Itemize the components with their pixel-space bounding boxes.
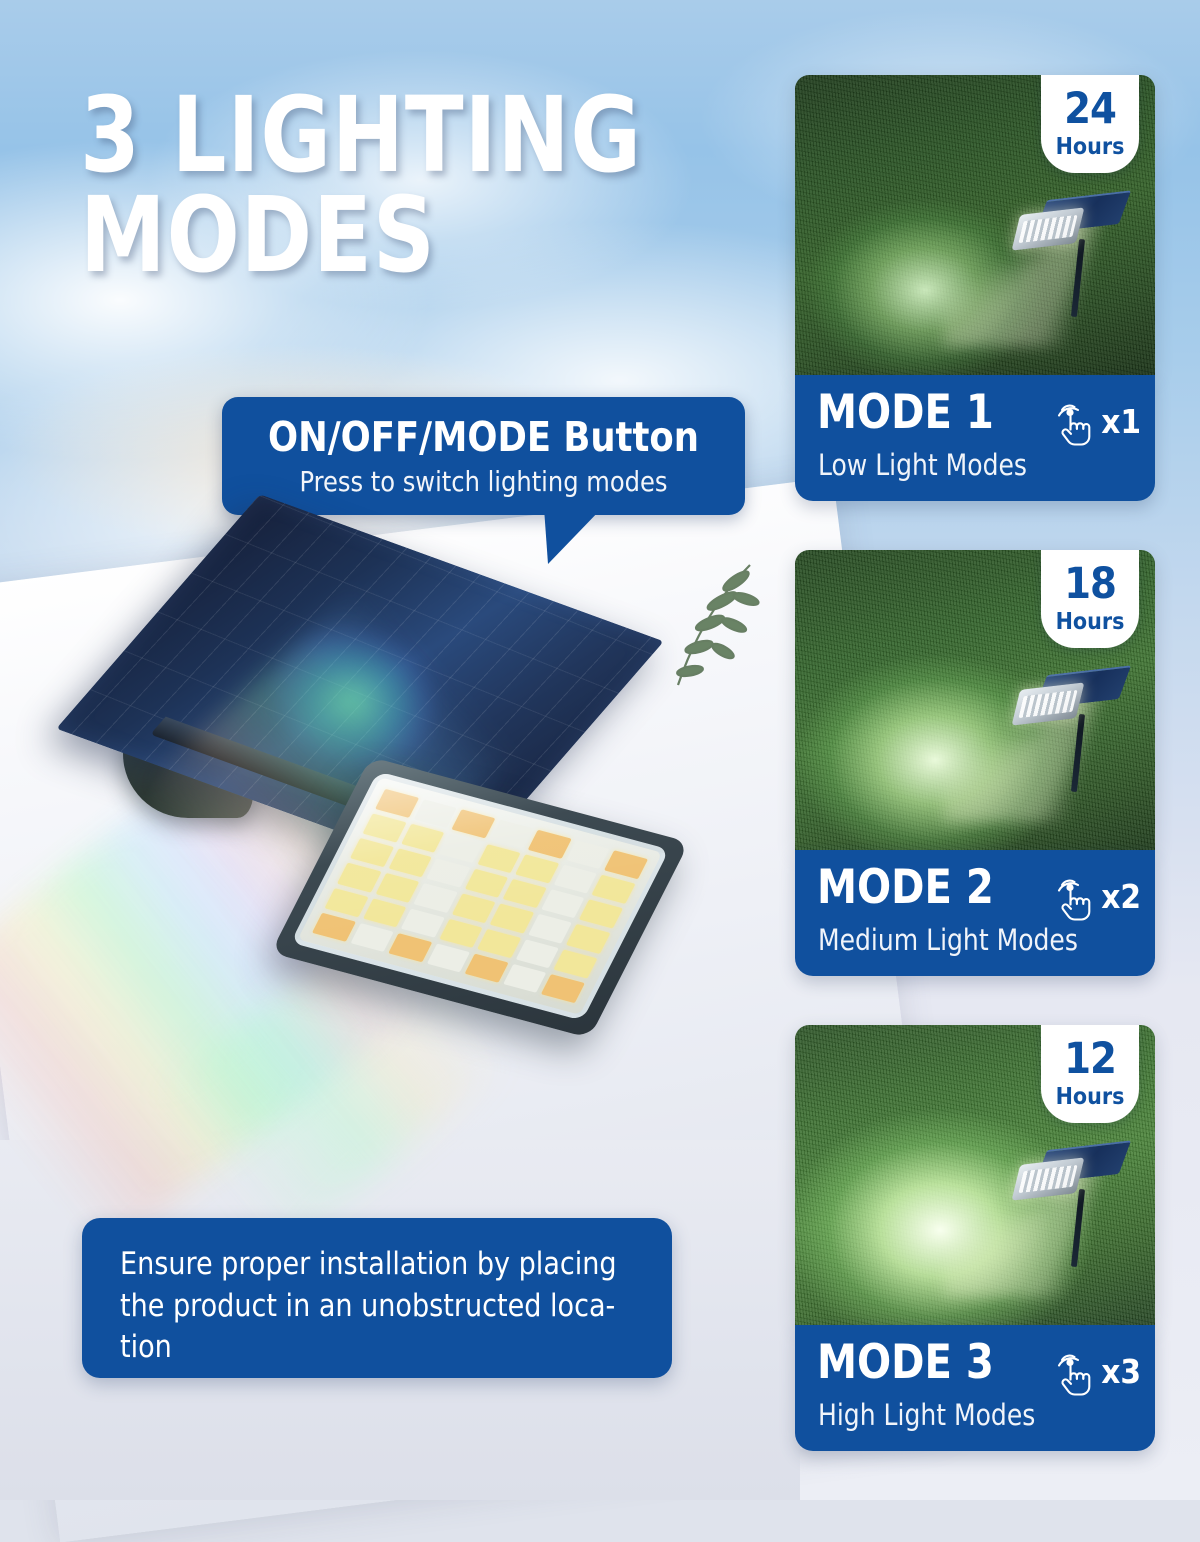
press-count-2: x2 bbox=[1101, 877, 1141, 916]
press-count-1: x1 bbox=[1101, 402, 1141, 441]
lamp-led-head bbox=[1012, 1157, 1085, 1200]
press-indicator-1: x1 bbox=[1051, 397, 1141, 447]
tap-gesture-icon bbox=[1051, 872, 1097, 922]
mode-card-1[interactable]: 24 Hours MODE 1 Low Light Modes x1 bbox=[795, 75, 1155, 501]
mode-card-3[interactable]: 12 Hours MODE 3 High Light Modes x3 bbox=[795, 1025, 1155, 1451]
runtime-hours-label: Hours bbox=[1056, 609, 1125, 635]
mode-card-2[interactable]: 18 Hours MODE 2 Medium Light Modes x2 bbox=[795, 550, 1155, 976]
runtime-badge-2: 18 Hours bbox=[1041, 550, 1139, 648]
callout-title: ON/OFF/MODE Button bbox=[232, 413, 734, 461]
press-count-3: x3 bbox=[1101, 1352, 1141, 1391]
runtime-badge-1: 24 Hours bbox=[1041, 75, 1139, 173]
installation-note-text: Ensure proper installation by placing th… bbox=[120, 1244, 624, 1369]
lamp-in-photo bbox=[1017, 670, 1127, 790]
mode-title-2: MODE 2 bbox=[817, 864, 994, 911]
callout-subtitle: Press to switch lighting modes bbox=[232, 465, 734, 498]
installation-note: Ensure proper installation by placing th… bbox=[82, 1218, 672, 1378]
lamp-in-photo bbox=[1017, 195, 1127, 315]
runtime-hours-label: Hours bbox=[1056, 1084, 1125, 1110]
foliage-sprig-icon bbox=[600, 555, 760, 745]
runtime-hours-value: 24 bbox=[1064, 88, 1116, 131]
runtime-hours-value: 18 bbox=[1064, 563, 1116, 606]
lamp-stake bbox=[1071, 239, 1085, 317]
mode-photo-1: 24 Hours bbox=[795, 75, 1155, 375]
tap-gesture-icon bbox=[1051, 1347, 1097, 1397]
mode-label-band-2: MODE 2 Medium Light Modes x2 bbox=[795, 850, 1155, 976]
lamp-stake bbox=[1071, 1189, 1085, 1267]
lamp-led-head bbox=[1012, 682, 1085, 725]
press-indicator-3: x3 bbox=[1051, 1347, 1141, 1397]
runtime-badge-3: 12 Hours bbox=[1041, 1025, 1139, 1123]
mode-photo-3: 12 Hours bbox=[795, 1025, 1155, 1325]
mode-label-band-1: MODE 1 Low Light Modes x1 bbox=[795, 375, 1155, 501]
runtime-hours-label: Hours bbox=[1056, 134, 1125, 160]
lamp-led-head bbox=[1012, 207, 1085, 250]
onoff-mode-callout: ON/OFF/MODE Button Press to switch light… bbox=[222, 397, 745, 515]
mode-subtitle-1: Low Light Modes bbox=[818, 451, 1027, 480]
page-title: 3 LIGHTING MODES bbox=[80, 86, 687, 286]
mode-label-band-3: MODE 3 High Light Modes x3 bbox=[795, 1325, 1155, 1451]
lamp-stake bbox=[1071, 714, 1085, 792]
tap-gesture-icon bbox=[1051, 397, 1097, 447]
mode-subtitle-2: Medium Light Modes bbox=[818, 926, 1078, 955]
mode-title-3: MODE 3 bbox=[817, 1339, 994, 1386]
mode-photo-2: 18 Hours bbox=[795, 550, 1155, 850]
headline-line-2: MODES bbox=[80, 186, 687, 286]
mode-title-1: MODE 1 bbox=[817, 389, 994, 436]
runtime-hours-value: 12 bbox=[1064, 1038, 1116, 1081]
mode-subtitle-3: High Light Modes bbox=[818, 1401, 1035, 1430]
lamp-in-photo bbox=[1017, 1145, 1127, 1265]
press-indicator-2: x2 bbox=[1051, 872, 1141, 922]
